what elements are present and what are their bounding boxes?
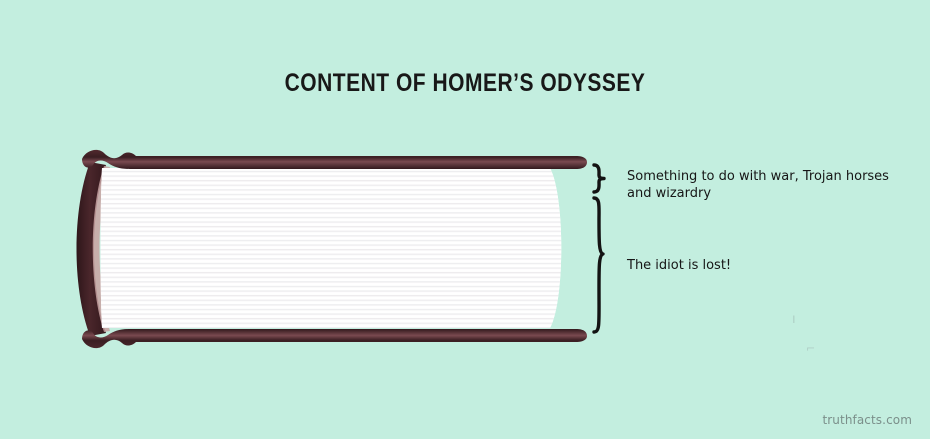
small-top-brace xyxy=(594,165,604,192)
book-bottom-cover xyxy=(82,329,587,348)
book-pages xyxy=(90,160,590,340)
faint-mark-secondary-icon: ⌐ xyxy=(806,342,815,355)
callout-braces xyxy=(588,158,614,343)
infographic-canvas: CONTENT OF HOMER’S ODYSSEY xyxy=(0,0,930,439)
book-top-cover xyxy=(82,150,587,169)
open-book-illustration xyxy=(60,140,605,355)
page-title: CONTENT OF HOMER’S ODYSSEY xyxy=(74,69,855,98)
callout-text-war: Something to do with war, Trojan horses … xyxy=(627,168,917,202)
site-watermark: truthfacts.com xyxy=(822,413,912,427)
faint-mark-icon: ı xyxy=(792,312,796,327)
callout-text-lost: The idiot is lost! xyxy=(627,257,917,274)
large-bottom-brace xyxy=(594,198,603,332)
